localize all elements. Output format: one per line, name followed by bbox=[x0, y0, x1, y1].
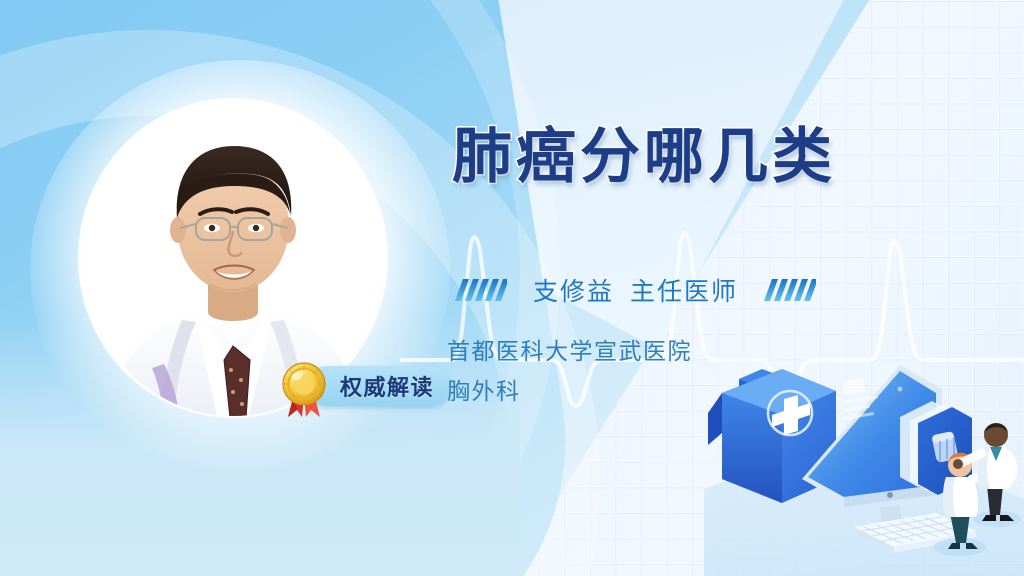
isometric-medical-workstation bbox=[704, 361, 1024, 576]
page-title: 肺癌分哪几类 bbox=[452, 108, 836, 195]
slash-decoration-icon bbox=[455, 277, 507, 303]
speaker-row: 支修益 主任医师 bbox=[455, 272, 816, 308]
speaker-rank: 主任医师 bbox=[630, 272, 738, 308]
slash-decoration-icon bbox=[764, 277, 816, 303]
badge-label: 权威解读 bbox=[340, 370, 434, 402]
speaker-hospital: 首都医科大学宣武医院 bbox=[447, 332, 692, 366]
gold-medal-icon bbox=[278, 360, 330, 418]
speaker-name: 支修益 bbox=[533, 272, 614, 308]
speaker-department: 胸外科 bbox=[447, 372, 521, 406]
title-card: 权威解读 bbox=[0, 0, 1024, 576]
